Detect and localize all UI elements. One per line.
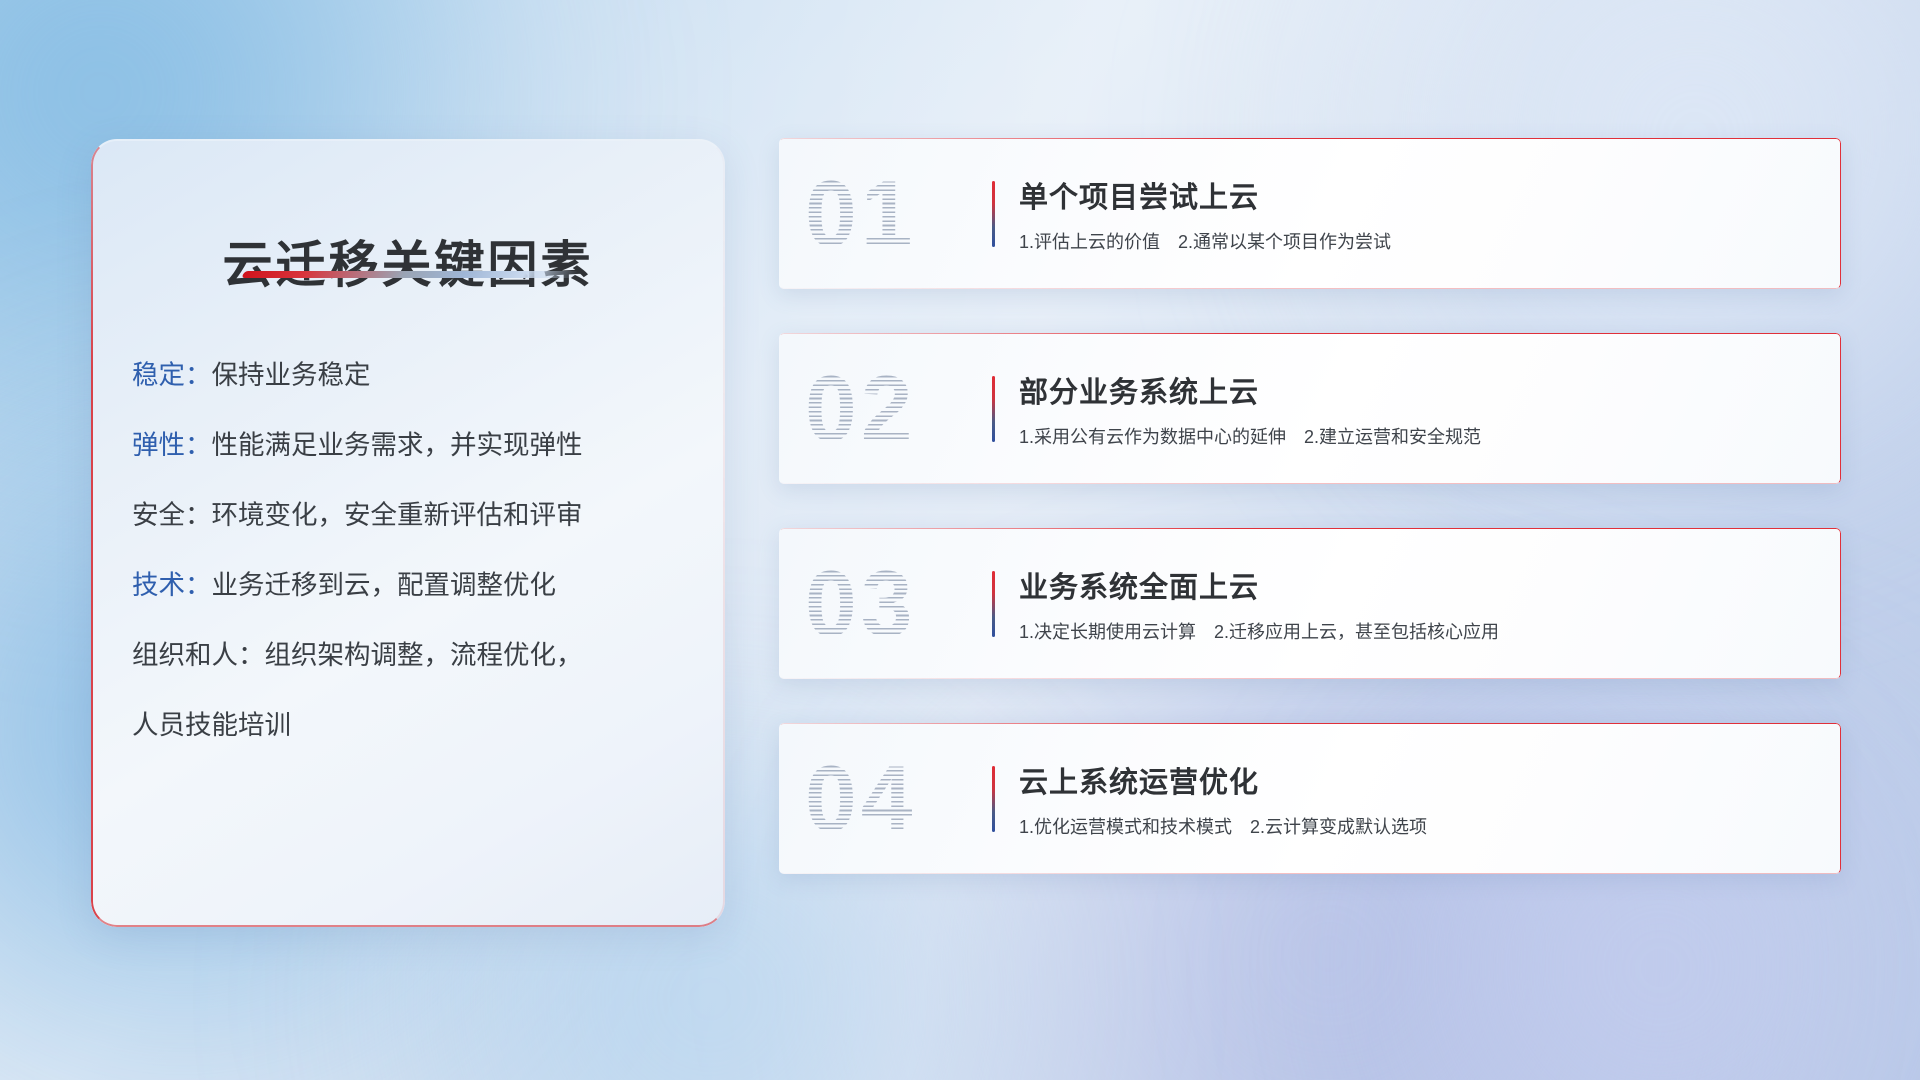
stage-divider-bar xyxy=(992,376,995,442)
stage-card-04[interactable]: 04 云上系统运营优化 1.优化运营模式和技术模式2.云计算变成默认选项 xyxy=(779,723,1841,874)
list-item-value: 业务迁移到云，配置调整优化 xyxy=(212,570,557,600)
stage-point: 1.评估上云的价值 xyxy=(1019,232,1160,252)
stage-divider-bar xyxy=(992,571,995,637)
stage-point: 2.建立运营和安全规范 xyxy=(1304,427,1481,447)
stage-title: 单个项目尝试上云 xyxy=(1019,174,1815,216)
list-item-label: 技术： xyxy=(132,570,212,600)
list-item: 组织和人：组织架构调整，流程优化， xyxy=(132,639,695,673)
stage-title: 部分业务系统上云 xyxy=(1019,369,1815,411)
list-item-value: 组织架构调整，流程优化， xyxy=(265,640,583,670)
title-underline-accent xyxy=(241,271,578,278)
stage-content: 业务系统全面上云 1.决定长期使用云计算2.迁移应用上云，甚至包括核心应用 xyxy=(1019,564,1815,644)
stage-card-02[interactable]: 02 部分业务系统上云 1.采用公有云作为数据中心的延伸2.建立运营和安全规范 xyxy=(779,333,1841,484)
stage-number-watermark: 01 xyxy=(805,167,916,260)
list-item-value: 性能满足业务需求，并实现弹性 xyxy=(212,430,583,460)
stage-points: 1.采用公有云作为数据中心的延伸2.建立运营和安全规范 xyxy=(1019,423,1815,449)
list-item-value: 环境变化，安全重新评估和评审 xyxy=(212,500,583,530)
list-item-value: 人员技能培训 xyxy=(132,710,291,740)
list-item-label: 稳定： xyxy=(132,360,212,390)
stage-card-01[interactable]: 01 单个项目尝试上云 1.评估上云的价值2.通常以某个项目作为尝试 xyxy=(779,138,1841,289)
key-factors-panel: 云迁移关键因素 稳定：保持业务稳定 弹性：性能满足业务需求，并实现弹性 安全：环… xyxy=(91,139,725,927)
stage-points: 1.优化运营模式和技术模式2.云计算变成默认选项 xyxy=(1019,813,1815,839)
list-item-label: 弹性： xyxy=(132,430,212,460)
stage-content: 部分业务系统上云 1.采用公有云作为数据中心的延伸2.建立运营和安全规范 xyxy=(1019,369,1815,449)
page-title: 云迁移关键因素 xyxy=(91,225,725,297)
stage-point: 2.迁移应用上云，甚至包括核心应用 xyxy=(1214,622,1499,642)
list-item-label: 组织和人： xyxy=(132,640,265,670)
list-item: 弹性：性能满足业务需求，并实现弹性 xyxy=(132,429,695,463)
list-item-value: 保持业务稳定 xyxy=(212,360,371,390)
stage-title: 云上系统运营优化 xyxy=(1019,759,1815,801)
stage-content: 单个项目尝试上云 1.评估上云的价值2.通常以某个项目作为尝试 xyxy=(1019,174,1815,254)
key-factors-list: 稳定：保持业务稳定 弹性：性能满足业务需求，并实现弹性 安全：环境变化，安全重新… xyxy=(132,359,695,778)
list-item-continuation: 人员技能培训 xyxy=(132,709,695,743)
list-item-label: 安全： xyxy=(132,500,212,530)
stage-points: 1.评估上云的价值2.通常以某个项目作为尝试 xyxy=(1019,228,1815,254)
stage-point: 1.决定长期使用云计算 xyxy=(1019,622,1196,642)
stage-point: 1.优化运营模式和技术模式 xyxy=(1019,817,1232,837)
stage-point: 2.云计算变成默认选项 xyxy=(1250,817,1427,837)
stage-divider-bar xyxy=(992,766,995,832)
stage-number-watermark: 03 xyxy=(805,557,916,650)
stage-points: 1.决定长期使用云计算2.迁移应用上云，甚至包括核心应用 xyxy=(1019,618,1815,644)
stage-point: 2.通常以某个项目作为尝试 xyxy=(1178,232,1391,252)
list-item: 技术：业务迁移到云，配置调整优化 xyxy=(132,569,695,603)
list-item: 安全：环境变化，安全重新评估和评审 xyxy=(132,499,695,533)
migration-stages-list: 01 单个项目尝试上云 1.评估上云的价值2.通常以某个项目作为尝试 02 部分… xyxy=(779,138,1841,918)
stage-divider-bar xyxy=(992,181,995,247)
stage-content: 云上系统运营优化 1.优化运营模式和技术模式2.云计算变成默认选项 xyxy=(1019,759,1815,839)
stage-number-watermark: 02 xyxy=(805,362,916,455)
stage-title: 业务系统全面上云 xyxy=(1019,564,1815,606)
stage-number-watermark: 04 xyxy=(805,752,916,845)
stage-point: 1.采用公有云作为数据中心的延伸 xyxy=(1019,427,1286,447)
stage-card-03[interactable]: 03 业务系统全面上云 1.决定长期使用云计算2.迁移应用上云，甚至包括核心应用 xyxy=(779,528,1841,679)
list-item: 稳定：保持业务稳定 xyxy=(132,359,695,393)
